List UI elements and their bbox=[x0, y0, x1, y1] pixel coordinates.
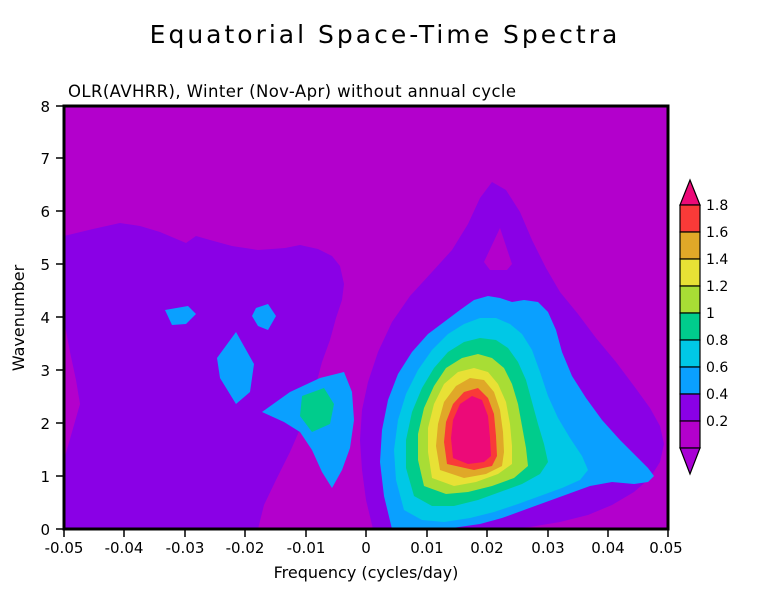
x-tick-label: 0 bbox=[361, 539, 371, 557]
y-tick-label: 5 bbox=[40, 256, 50, 274]
x-tick-label: 0.03 bbox=[531, 539, 564, 557]
y-axis-label: Wavenumber bbox=[9, 264, 28, 371]
y-tick-label: 2 bbox=[40, 415, 50, 433]
colorbar-tick-label: 1.6 bbox=[706, 225, 728, 241]
y-tick-label: 7 bbox=[40, 150, 50, 168]
y-axis: 0 1 2 3 4 5 6 7 8 Wavenumber bbox=[9, 98, 64, 539]
colorbar-swatch-1.8 bbox=[680, 205, 700, 232]
y-tick-label: 6 bbox=[40, 203, 50, 221]
contour-field bbox=[64, 106, 668, 529]
colorbar-swatch-1.4 bbox=[680, 259, 700, 286]
x-axis-label: Frequency (cycles/day) bbox=[274, 563, 459, 582]
colorbar-swatch-1.0 bbox=[680, 313, 700, 340]
colorbar-swatch-0.6 bbox=[680, 367, 700, 394]
colorbar-tick-label: 1.2 bbox=[706, 279, 728, 295]
x-tick-label: -0.02 bbox=[226, 539, 265, 557]
y-tick-label: 4 bbox=[40, 309, 50, 327]
x-axis: -0.05 -0.04 -0.03 -0.02 -0.01 0 0.01 0.0… bbox=[45, 529, 683, 582]
colorbar-tick-label: 1.4 bbox=[706, 252, 728, 268]
figure-root: Equatorial Space-Time Spectra OLR(AVHRR)… bbox=[0, 0, 770, 595]
x-tick-label: 0.05 bbox=[649, 539, 682, 557]
colorbar-swatch-0.8 bbox=[680, 340, 700, 367]
colorbar-tick-label: 0.2 bbox=[706, 414, 728, 430]
colorbar-swatch-1.6 bbox=[680, 232, 700, 259]
x-tick-label: -0.04 bbox=[105, 539, 144, 557]
colorbar-tick-label: 0.8 bbox=[706, 333, 728, 349]
y-tick-label: 1 bbox=[40, 468, 50, 486]
colorbar-tick-label: 0.4 bbox=[706, 387, 728, 403]
colorbar-tick-label: 1 bbox=[706, 306, 715, 322]
x-tick-label: 0.02 bbox=[470, 539, 503, 557]
contour-plot: -0.05 -0.04 -0.03 -0.02 -0.01 0 0.01 0.0… bbox=[0, 0, 770, 595]
x-tick-label: 0.01 bbox=[410, 539, 443, 557]
colorbar-extend-bottom bbox=[680, 448, 700, 474]
y-tick-label: 3 bbox=[40, 362, 50, 380]
colorbar-tick-label: 0.6 bbox=[706, 360, 728, 376]
colorbar-swatch-0.2 bbox=[680, 421, 700, 448]
y-tick-label: 0 bbox=[40, 521, 50, 539]
colorbar[interactable]: 1.8 1.6 1.4 1.2 1 0.8 0.6 0.4 0.2 bbox=[680, 180, 728, 474]
colorbar-extend-top bbox=[680, 180, 700, 205]
x-tick-label: -0.01 bbox=[287, 539, 326, 557]
colorbar-swatch-0.4 bbox=[680, 394, 700, 421]
x-tick-label: -0.03 bbox=[166, 539, 205, 557]
colorbar-tick-label: 1.8 bbox=[706, 198, 728, 214]
colorbar-swatch-1.2 bbox=[680, 286, 700, 313]
y-tick-label: 8 bbox=[40, 98, 50, 116]
x-tick-label: 0.04 bbox=[591, 539, 624, 557]
x-tick-label: -0.05 bbox=[45, 539, 84, 557]
